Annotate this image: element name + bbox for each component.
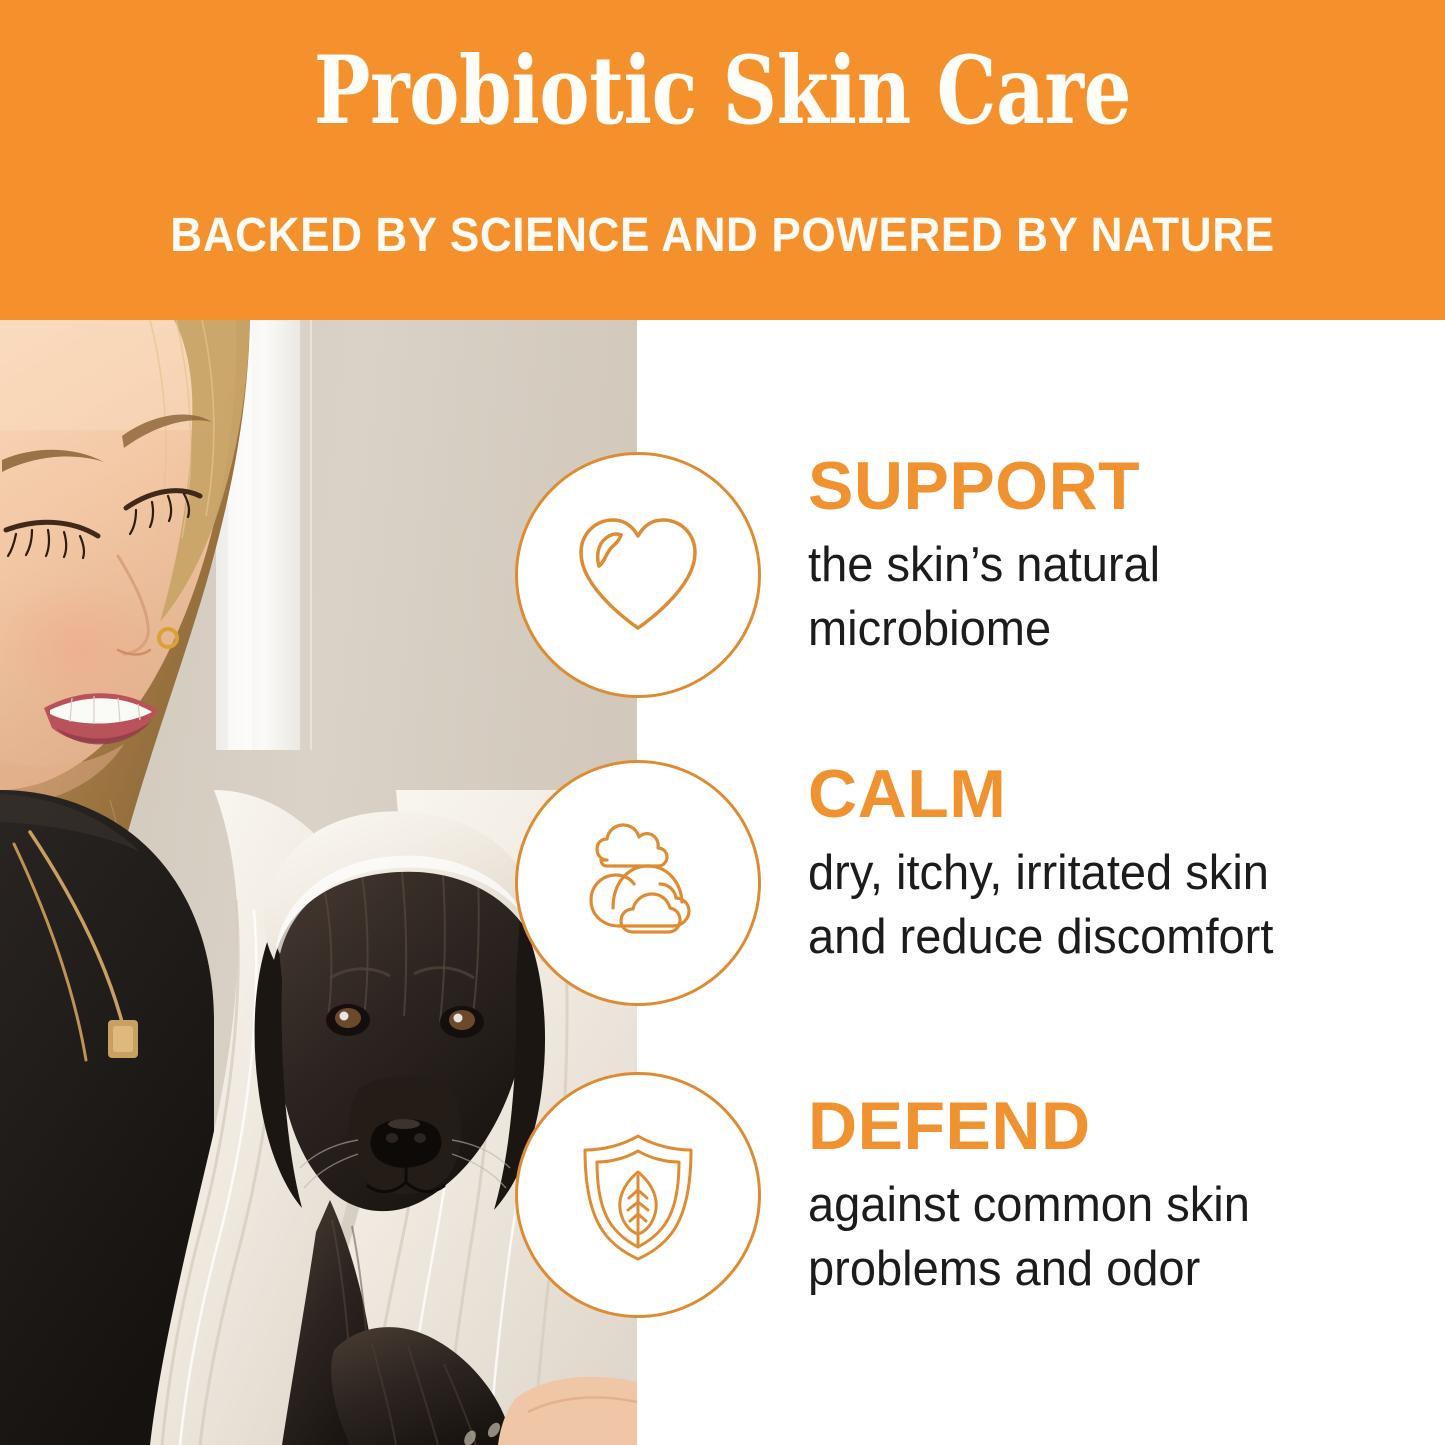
feature-body-line: dry, itchy, irritated skin [808, 842, 1403, 906]
clouds-icon-badge [515, 760, 761, 1006]
feature-text-support: SUPPORT the skin’s natural microbiome [808, 452, 1428, 661]
feature-text-defend: DEFEND against common skin problems and … [808, 1092, 1428, 1301]
heart-icon-badge [515, 452, 761, 698]
probiotic-skin-care-poster: Probiotic Skin Care BACKED BY SCIENCE AN… [0, 0, 1445, 1445]
feature-body-calm: dry, itchy, irritated skin and reduce di… [808, 842, 1403, 969]
feature-heading-calm: CALM [808, 760, 1428, 828]
heart-icon [563, 500, 713, 650]
feature-body-defend: against common skin problems and odor [808, 1174, 1403, 1301]
feature-body-support: the skin’s natural microbiome [808, 534, 1403, 661]
feature-body-line: and reduce discomfort [808, 906, 1403, 970]
page-subtitle: BACKED BY SCIENCE AND POWERED BY NATURE [58, 208, 1387, 263]
clouds-icon [563, 808, 713, 958]
page-title: Probiotic Skin Care [145, 42, 1301, 141]
feature-body-line: the skin’s natural [808, 534, 1403, 598]
feature-heading-defend: DEFEND [808, 1092, 1428, 1160]
feature-body-line: against common skin [808, 1174, 1403, 1238]
feature-body-line: microbiome [808, 598, 1403, 662]
shield-leaf-icon-badge [515, 1072, 761, 1318]
feature-body-line: problems and odor [808, 1238, 1403, 1302]
shield-leaf-icon [563, 1120, 713, 1270]
feature-heading-support: SUPPORT [808, 452, 1428, 520]
header-band: Probiotic Skin Care BACKED BY SCIENCE AN… [0, 0, 1445, 320]
feature-text-calm: CALM dry, itchy, irritated skin and redu… [808, 760, 1428, 969]
